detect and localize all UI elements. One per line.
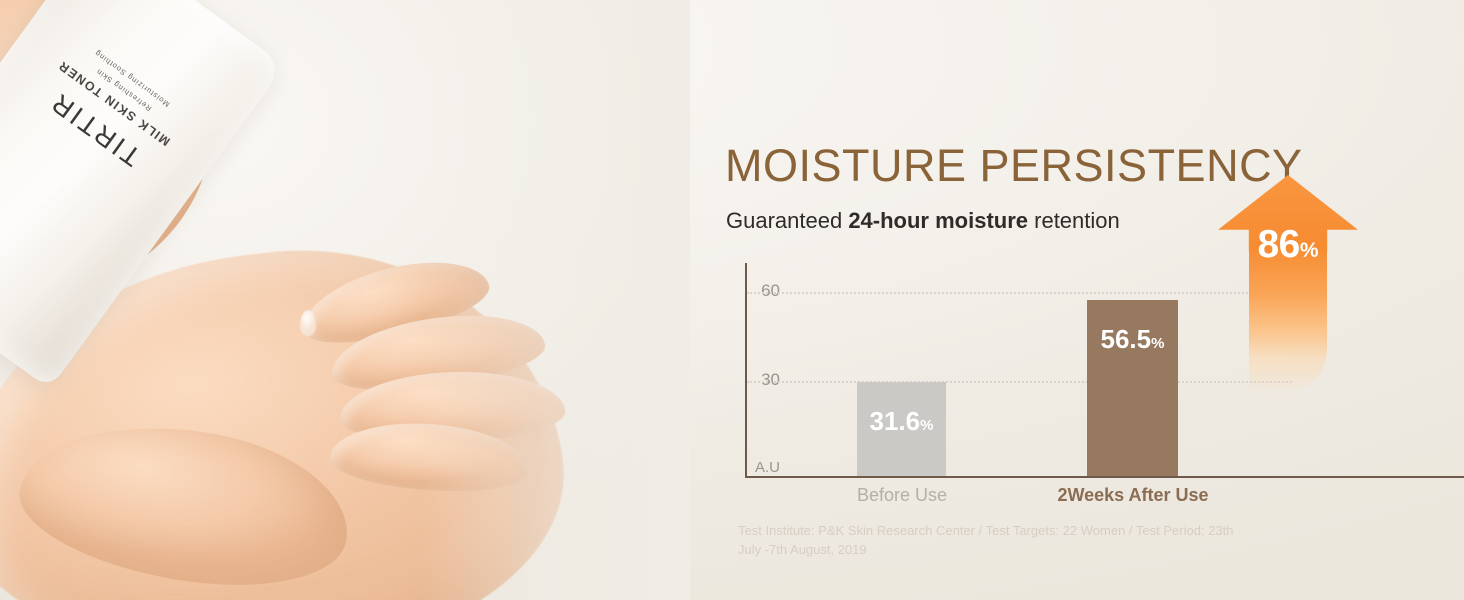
bar-value-number: 56.5: [1101, 324, 1152, 354]
bar-value-unit: %: [1151, 335, 1164, 352]
gridline-60: [747, 292, 1292, 294]
product-photo: TIRTIR MILK SKIN TONER Refreshing Skin M…: [0, 0, 690, 600]
bar-after-use: 56.5%: [1087, 300, 1178, 476]
category-label-after: 2Weeks After Use: [1038, 485, 1228, 506]
bar-value-label: 31.6%: [857, 406, 946, 437]
x-axis-line: [745, 476, 1464, 478]
gridline-30: [747, 381, 1292, 383]
badge-unit: %: [1300, 239, 1319, 262]
y-axis-tick-60: 60: [761, 281, 780, 301]
badge-value: 86: [1257, 223, 1299, 266]
y-axis-label-au: A.U: [755, 459, 780, 476]
badge-percentage: 86%: [1218, 223, 1358, 267]
toner-droplet: [300, 310, 316, 336]
increase-arrow-badge: 86%: [1218, 175, 1358, 390]
test-footnote: Test Institute: P&K Skin Research Center…: [738, 521, 1258, 559]
bar-value-unit: %: [920, 417, 933, 434]
arrow-shaft: [1249, 245, 1327, 395]
y-axis-line: [745, 263, 747, 478]
moisture-persistency-banner: TIRTIR MILK SKIN TONER Refreshing Skin M…: [0, 0, 1464, 600]
y-axis-tick-30: 30: [761, 370, 780, 390]
bar-value-number: 31.6: [870, 406, 921, 436]
bar-before-use: 31.6%: [857, 382, 946, 476]
infographic-panel: MOISTURE PERSISTENCY Guaranteed 24-hour …: [690, 0, 1464, 600]
photo-fade-overlay: [420, 0, 690, 600]
bar-value-label: 56.5%: [1087, 324, 1178, 355]
category-label-before: Before Use: [822, 485, 982, 506]
